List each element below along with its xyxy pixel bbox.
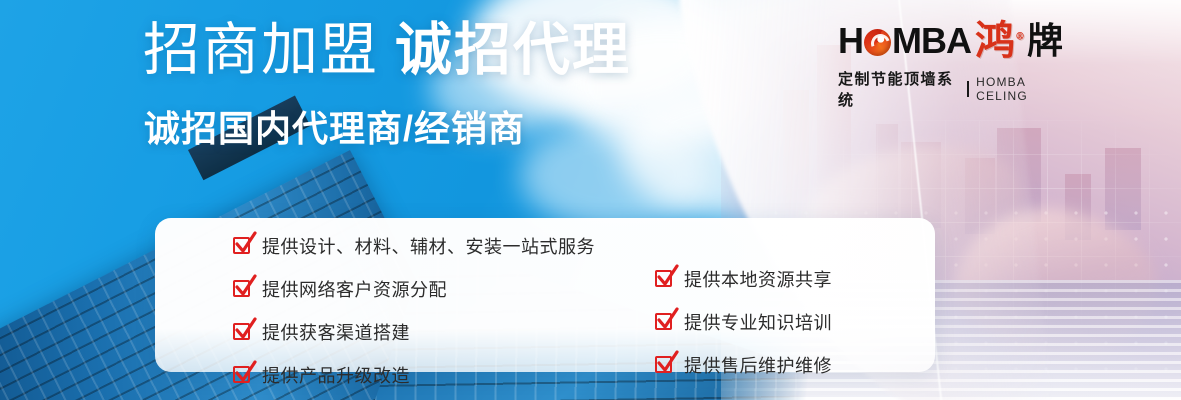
checkmark-icon [233, 237, 250, 254]
spiral-swirl-icon [864, 29, 891, 56]
checkmark-icon [233, 366, 250, 383]
checkmark-icon [655, 313, 672, 330]
features-card: 提供设计、材料、辅材、安装一站式服务 提供网络客户资源分配 提供获客渠道搭建 提… [155, 218, 935, 372]
list-item-label: 提供专业知识培训 [684, 309, 832, 335]
promo-banner: 招商加盟诚招代理 诚招国内代理商/经销商 HMBA 鸿® 牌 定制节能顶墙系统 … [0, 0, 1181, 400]
tagline-english: HOMBA CELING [976, 75, 1074, 103]
checkmark-icon [655, 356, 672, 373]
headline-primary: 招商加盟 [143, 18, 379, 82]
checkmark-icon [233, 323, 250, 340]
tagline-divider [967, 81, 969, 97]
subtitle: 诚招国内代理商/经销商 [144, 100, 525, 152]
list-item: 提供设计、材料、辅材、安装一站式服务 [233, 229, 595, 262]
list-item-label: 提供本地资源共享 [684, 266, 832, 292]
features-column-left: 提供设计、材料、辅材、安装一站式服务 提供网络客户资源分配 提供获客渠道搭建 提… [233, 229, 595, 391]
logo-latin-text: HMBA [838, 20, 971, 62]
checkmark-icon [655, 270, 672, 287]
list-item: 提供网络客户资源分配 [233, 272, 595, 305]
page-title: 招商加盟诚招代理 [143, 22, 631, 79]
list-item: 提供本地资源共享 [655, 262, 832, 295]
list-item-label: 提供获客渠道搭建 [262, 319, 410, 345]
list-item-label: 提供售后维护维修 [684, 352, 832, 378]
list-item: 提供专业知识培训 [655, 305, 832, 338]
tagline-chinese: 定制节能顶墙系统 [838, 68, 960, 110]
logo-letters-mba: MBA [892, 20, 971, 62]
registered-trademark-icon: ® [1015, 32, 1025, 43]
list-item-label: 提供产品升级改造 [262, 362, 410, 388]
features-column-right: 提供本地资源共享 提供专业知识培训 提供售后维护维修 [655, 262, 832, 381]
logo-wordmark: HMBA 鸿® 牌 [838, 20, 1074, 62]
list-item: 提供产品升级改造 [233, 358, 595, 391]
logo-tagline: 定制节能顶墙系统 HOMBA CELING [838, 68, 1074, 110]
list-item-label: 提供网络客户资源分配 [262, 276, 447, 302]
cloud-shape [520, 120, 710, 230]
logo-letter-h: H [838, 20, 863, 62]
logo-cn-char-hong: 鸿® [975, 22, 1025, 60]
headline-secondary: 诚招代理 [395, 18, 631, 82]
logo-hong-glyph: 鸿 [975, 17, 1015, 64]
list-item-label: 提供设计、材料、辅材、安装一站式服务 [262, 233, 595, 259]
checkmark-icon [233, 280, 250, 297]
logo-cn-char-pai: 牌 [1027, 23, 1063, 59]
brand-logo[interactable]: HMBA 鸿® 牌 定制节能顶墙系统 HOMBA CELING [838, 20, 1074, 88]
list-item: 提供售后维护维修 [655, 348, 832, 381]
list-item: 提供获客渠道搭建 [233, 315, 595, 348]
